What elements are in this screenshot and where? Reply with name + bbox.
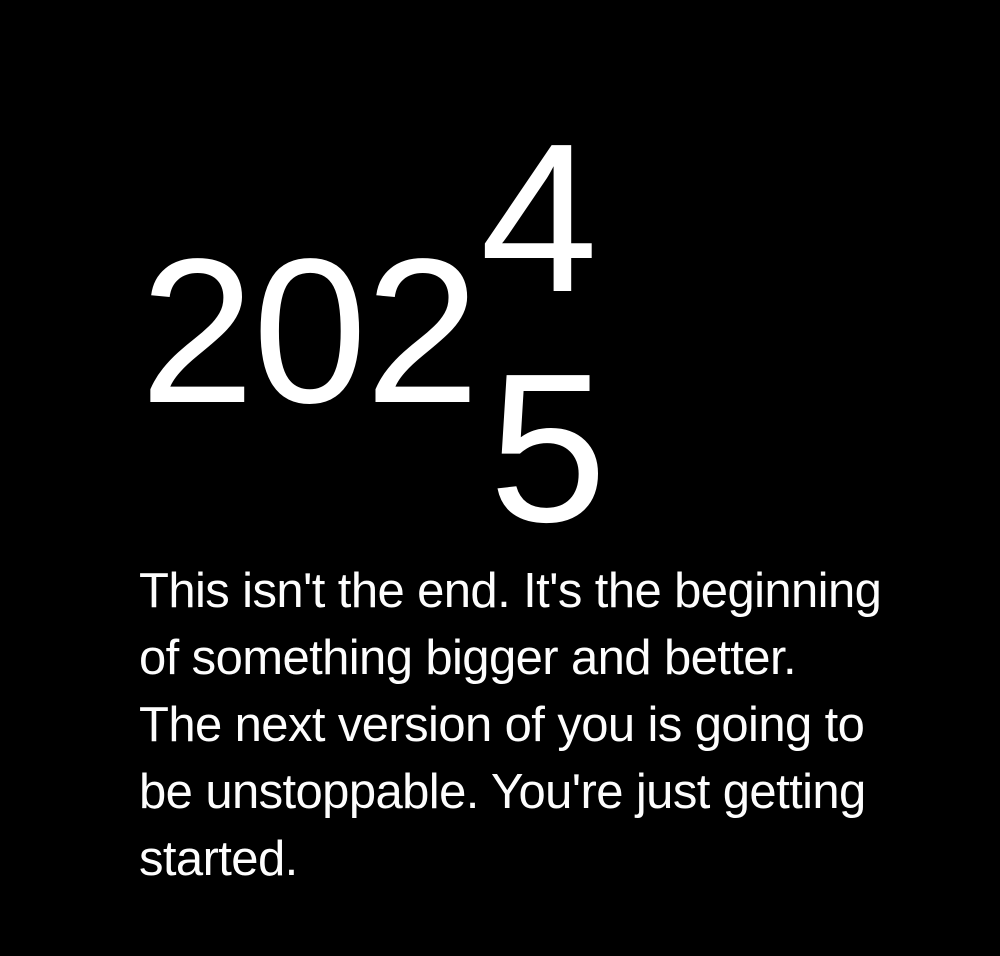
message-line-5: started. bbox=[139, 826, 911, 893]
motivational-poster: 202 4 5 This isn't the end. It's the beg… bbox=[0, 0, 1000, 956]
old-year-digit: 4 bbox=[480, 112, 596, 324]
message-block: This isn't the end. It's the beginning o… bbox=[139, 558, 911, 893]
year-transition-graphic: 202 4 5 bbox=[0, 0, 1000, 545]
message-line-3: The next version of you is going to bbox=[139, 692, 911, 759]
message-line-4: be unstoppable. You're just getting bbox=[139, 759, 911, 826]
message-line-2: of something bigger and better. bbox=[139, 625, 911, 692]
message-line-1: This isn't the end. It's the beginning bbox=[139, 558, 911, 625]
year-prefix-text: 202 bbox=[140, 228, 478, 434]
new-year-digit: 5 bbox=[489, 342, 605, 554]
